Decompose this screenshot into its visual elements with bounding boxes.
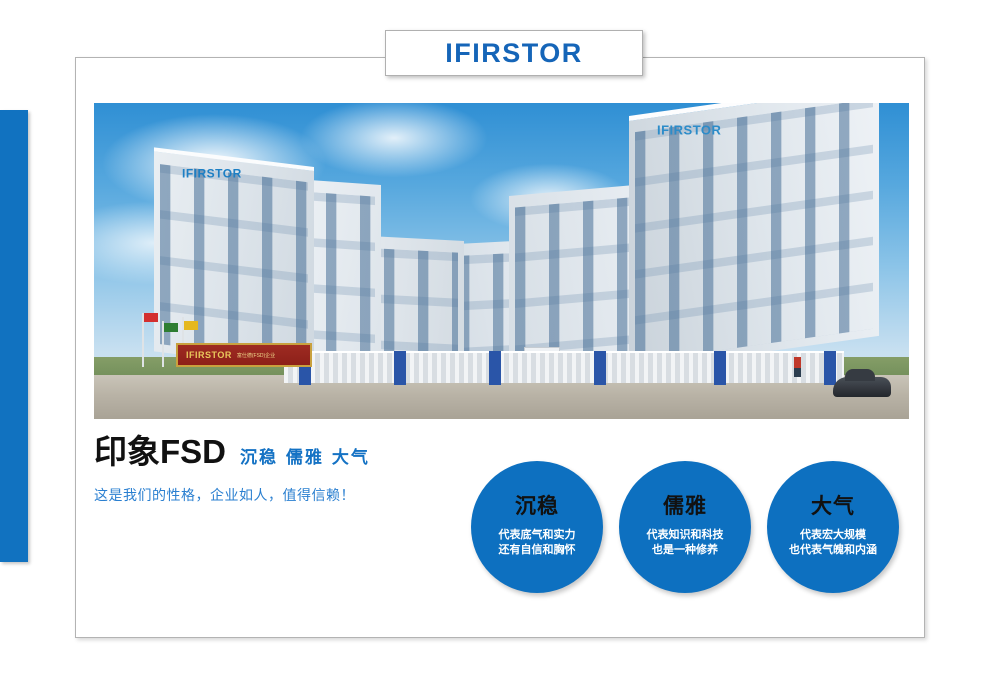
feature-circle-title: 沉稳 bbox=[515, 496, 559, 517]
right-building-sign: IFIRSTOR bbox=[657, 123, 721, 138]
feature-circle-daqi[interactable]: 大气 代表宏大规模 也代表气魄和内涵 bbox=[767, 461, 899, 593]
page-title: 印象FSD bbox=[94, 435, 226, 468]
feature-circle-title: 大气 bbox=[811, 496, 855, 517]
brand-logo-plate[interactable]: IFIRSTOR bbox=[385, 30, 643, 76]
feature-circle-desc-line2: 也是一种修养 bbox=[647, 543, 724, 558]
right-main-building: IFIRSTOR bbox=[629, 103, 879, 371]
heading-block: 印象FSD 沉稳 儒雅 大气 bbox=[94, 435, 370, 468]
feature-circle-chenwen[interactable]: 沉稳 代表底气和实力 还有自信和胸怀 bbox=[471, 461, 603, 593]
feature-circle-desc-line2: 还有自信和胸怀 bbox=[499, 543, 576, 558]
pedestrian bbox=[794, 357, 801, 377]
gate-sign-chinese: 富仕德(FSD)企业 bbox=[237, 352, 275, 359]
flagpole bbox=[162, 321, 164, 367]
feature-circle-description: 代表知识和科技 也是一种修养 bbox=[647, 528, 724, 558]
gate-post bbox=[824, 351, 836, 385]
title-tagline: 沉稳 儒雅 大气 bbox=[240, 443, 370, 468]
feature-circle-desc-line1: 代表知识和科技 bbox=[647, 528, 724, 543]
flagpole bbox=[142, 313, 144, 367]
right-building-second bbox=[509, 184, 649, 371]
feature-circle-title: 儒雅 bbox=[663, 496, 707, 517]
feature-circle-description: 代表底气和实力 还有自信和胸怀 bbox=[499, 528, 576, 558]
gate-post bbox=[489, 351, 501, 385]
gate-post bbox=[714, 351, 726, 385]
feature-circle-ruya[interactable]: 儒雅 代表知识和科技 也是一种修养 bbox=[619, 461, 751, 593]
left-main-building: IFIRSTOR bbox=[154, 147, 314, 371]
flag bbox=[184, 321, 198, 330]
entrance-gate-fence bbox=[284, 351, 844, 383]
gate-post bbox=[394, 351, 406, 385]
window-grid bbox=[635, 103, 873, 362]
window-grid bbox=[515, 196, 643, 362]
feature-circle-description: 代表宏大规模 也代表气魄和内涵 bbox=[789, 528, 877, 558]
left-building-sign: IFIRSTOR bbox=[182, 166, 242, 180]
left-accent-bar bbox=[0, 110, 28, 562]
feature-circle-desc-line2: 也代表气魄和内涵 bbox=[789, 543, 877, 558]
flag bbox=[164, 323, 178, 332]
flag bbox=[144, 313, 158, 322]
feature-circle-desc-line1: 代表宏大规模 bbox=[789, 528, 877, 543]
gate-post bbox=[594, 351, 606, 385]
parked-car bbox=[833, 377, 891, 397]
factory-campus-photo: IFIRSTOR IFIRSTOR IF bbox=[94, 103, 909, 419]
feature-circle-desc-line1: 代表底气和实力 bbox=[499, 528, 576, 543]
gate-name-sign: IFIRSTOR 富仕德(FSD)企业 bbox=[176, 343, 312, 367]
gate-sign-english: IFIRSTOR bbox=[186, 350, 232, 360]
page-subtitle: 这是我们的性格，企业如人，值得信赖！ bbox=[94, 485, 355, 505]
content-card: IFIRSTOR IFIRSTOR IF bbox=[75, 57, 925, 638]
feature-circle-group: 沉稳 代表底气和实力 还有自信和胸怀 儒雅 代表知识和科技 也是一种修养 大气 … bbox=[471, 461, 899, 593]
brand-logo-text: IFIRSTOR bbox=[445, 38, 583, 69]
